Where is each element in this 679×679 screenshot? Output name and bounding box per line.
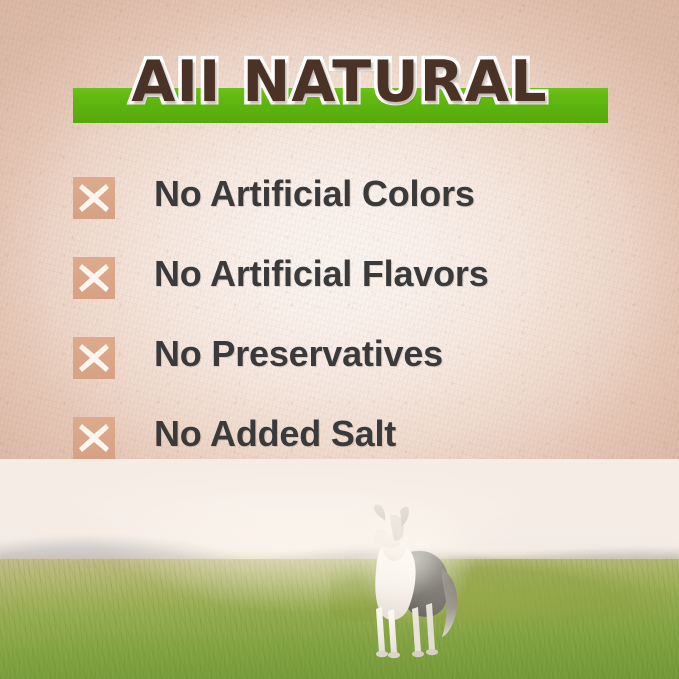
list-item: No Artificial Flavors xyxy=(73,252,613,332)
list-item: No Preservatives xyxy=(73,332,613,412)
list-item-label: No Artificial Flavors xyxy=(154,252,489,296)
page-title: AII NATURAL xyxy=(0,54,679,111)
list-item-label: No Added Salt xyxy=(154,412,396,456)
dog-figure xyxy=(352,503,472,663)
list-item: No Artificial Colors xyxy=(73,172,613,252)
x-mark-icon xyxy=(73,257,115,299)
border-collie-in-field-photo xyxy=(0,459,679,679)
claims-list: No Artificial Colors No Artificial Flavo… xyxy=(73,172,613,492)
x-mark-icon xyxy=(73,417,115,459)
product-feature-poster: AII NATURAL No Artificial Colors No Arti… xyxy=(0,0,679,679)
x-mark-icon xyxy=(73,337,115,379)
list-item-label: No Preservatives xyxy=(154,332,443,376)
x-mark-icon xyxy=(73,177,115,219)
list-item-label: No Artificial Colors xyxy=(154,172,475,216)
